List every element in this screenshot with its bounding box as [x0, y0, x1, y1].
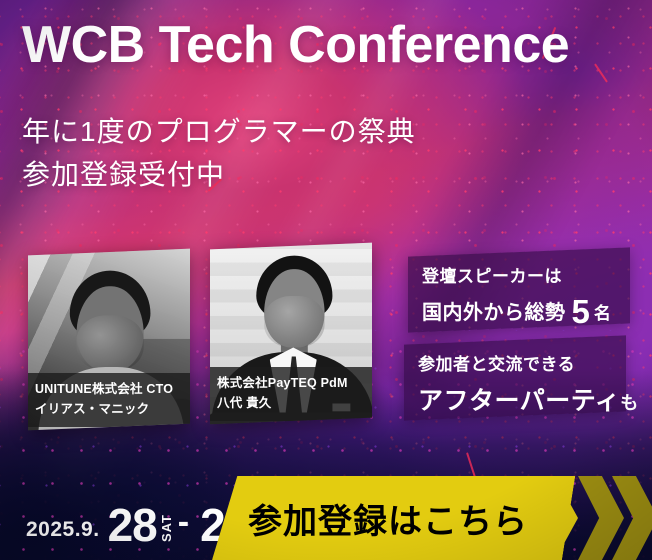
- speaker-card-2: 株式会社PayTEQ PdM 八代 貴久: [210, 243, 372, 425]
- info-box-speakers-prefix: 国内外から総勢: [422, 302, 566, 324]
- date-day-start: 28: [108, 504, 157, 546]
- info-box-speakers-content: 登壇スピーカーは 国内外から総勢5名: [408, 252, 630, 331]
- subtitle-line-2: 参加登録受付中: [22, 153, 416, 196]
- info-box-speakers-suffix: 名: [594, 304, 612, 323]
- subtitle-line-1: 年に1度のプログラマーの祭典: [22, 110, 416, 153]
- info-box-afterparty-line2: アフターパーティも: [418, 381, 614, 417]
- page-title: WCB Tech Conference: [22, 18, 642, 73]
- speaker-caption-2: 株式会社PayTEQ PdM 八代 貴久: [210, 367, 372, 421]
- portrait-face-shading-2: [264, 296, 324, 348]
- speaker-affiliation-1: UNITUNE株式会社 CTO: [35, 379, 183, 399]
- register-cta[interactable]: 参加登録はこちら: [212, 476, 652, 560]
- date-separator: -: [178, 503, 189, 546]
- date-dow-start: SAT: [159, 514, 174, 542]
- info-box-afterparty-tail: も: [620, 393, 639, 413]
- info-box-afterparty-main: アフターパーティ: [418, 387, 620, 415]
- date-year-month: 2025.9.: [26, 518, 100, 546]
- chevron-right-icon-1: [578, 476, 624, 560]
- conference-banner: WCB Tech Conference 年に1度のプログラマーの祭典 参加登録受…: [0, 0, 652, 560]
- info-box-speakers-line1: 登壇スピーカーは: [422, 262, 618, 287]
- info-box-afterparty: 参加者と交流できる アフターパーティも: [404, 335, 626, 420]
- portrait-face-shading-1: [77, 315, 144, 371]
- info-box-speakers-line2: 国内外から総勢5名: [422, 293, 618, 331]
- info-box-afterparty-line1: 参加者と交流できる: [418, 350, 614, 375]
- cta-label[interactable]: 参加登録はこちら: [248, 476, 528, 560]
- info-box-speakers-count: 5: [572, 293, 590, 330]
- speaker-name-2: 八代 貴久: [217, 393, 365, 413]
- speaker-name-1: イリアス・マニック: [35, 399, 183, 419]
- info-box-afterparty-content: 参加者と交流できる アフターパーティも: [404, 340, 626, 417]
- speaker-caption-1: UNITUNE株式会社 CTO イリアス・マニック: [28, 373, 190, 427]
- info-box-speakers: 登壇スピーカーは 国内外から総勢5名: [408, 247, 630, 332]
- speaker-card-1: UNITUNE株式会社 CTO イリアス・マニック: [28, 249, 190, 431]
- speaker-affiliation-2: 株式会社PayTEQ PdM: [217, 373, 365, 393]
- subtitle-block: 年に1度のプログラマーの祭典 参加登録受付中: [22, 110, 416, 197]
